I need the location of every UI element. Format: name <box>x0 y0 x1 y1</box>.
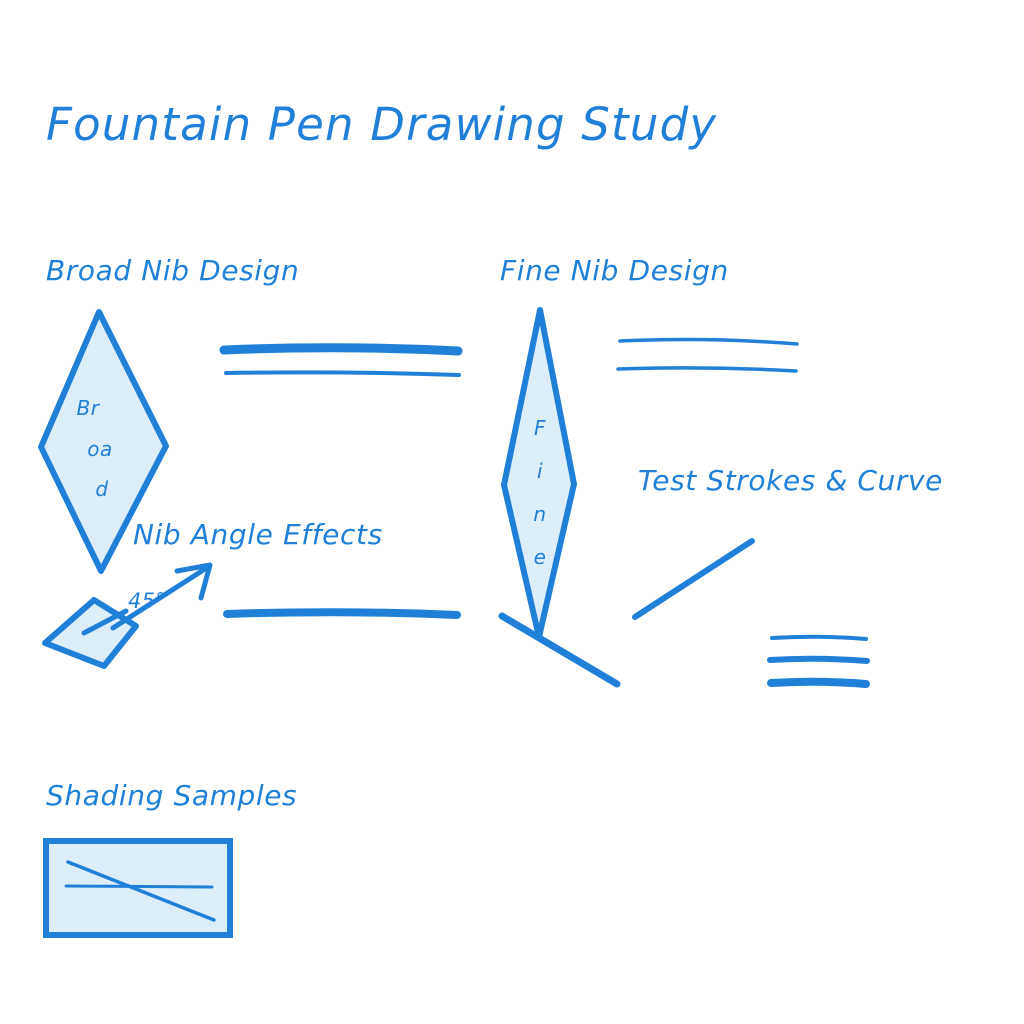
broad-nib-label-line-1: Br <box>77 396 101 420</box>
broad-nib-label-line-3: d <box>95 477 108 501</box>
fine-nib-label-line-2: i <box>537 459 543 483</box>
angled-nib-diamond-icon <box>45 600 136 666</box>
broad-thin-stroke <box>226 372 459 375</box>
fine-nib-label-line-3: n <box>533 502 546 526</box>
page-title: Fountain Pen Drawing Study <box>46 98 717 151</box>
fine-stroke-upper <box>620 340 797 344</box>
broad-nib-stroke-samples <box>224 348 459 375</box>
fine-nib-shape: F i n e <box>504 310 574 637</box>
fine-nib-cross-stroke <box>502 616 617 684</box>
drawing-canvas: Fountain Pen Drawing Study Broad Nib Des… <box>0 0 1024 1024</box>
angle-label-45-degrees: 45° <box>128 589 166 613</box>
fine-nib-label-line-1: F <box>534 416 546 440</box>
fine-stroke-lower <box>618 368 796 371</box>
broad-thick-stroke <box>224 348 458 351</box>
broad-nib-label-line-2: oa <box>87 437 113 461</box>
heading-nib-angle-effects: Nib Angle Effects <box>133 518 383 551</box>
shading-horizontal-line <box>66 886 212 887</box>
test-thick-stroke <box>771 682 866 684</box>
test-medium-stroke <box>770 659 867 661</box>
sketch-surface: Fountain Pen Drawing Study Broad Nib Des… <box>0 0 1024 1024</box>
heading-fine-nib-design: Fine Nib Design <box>500 254 729 287</box>
shading-sample-box <box>46 841 230 935</box>
angle-thick-stroke <box>227 612 457 615</box>
test-diagonal-stroke <box>635 541 752 617</box>
test-thin-stroke <box>772 637 866 639</box>
fine-nib-stroke-samples <box>618 340 797 371</box>
heading-test-strokes: Test Strokes & Curve <box>638 464 943 497</box>
heading-broad-nib-design: Broad Nib Design <box>46 254 299 287</box>
test-stroke-samples <box>770 637 867 684</box>
heading-shading-samples: Shading Samples <box>46 779 297 812</box>
angled-nib-shape <box>45 600 136 666</box>
fine-nib-label-line-4: e <box>534 545 547 569</box>
